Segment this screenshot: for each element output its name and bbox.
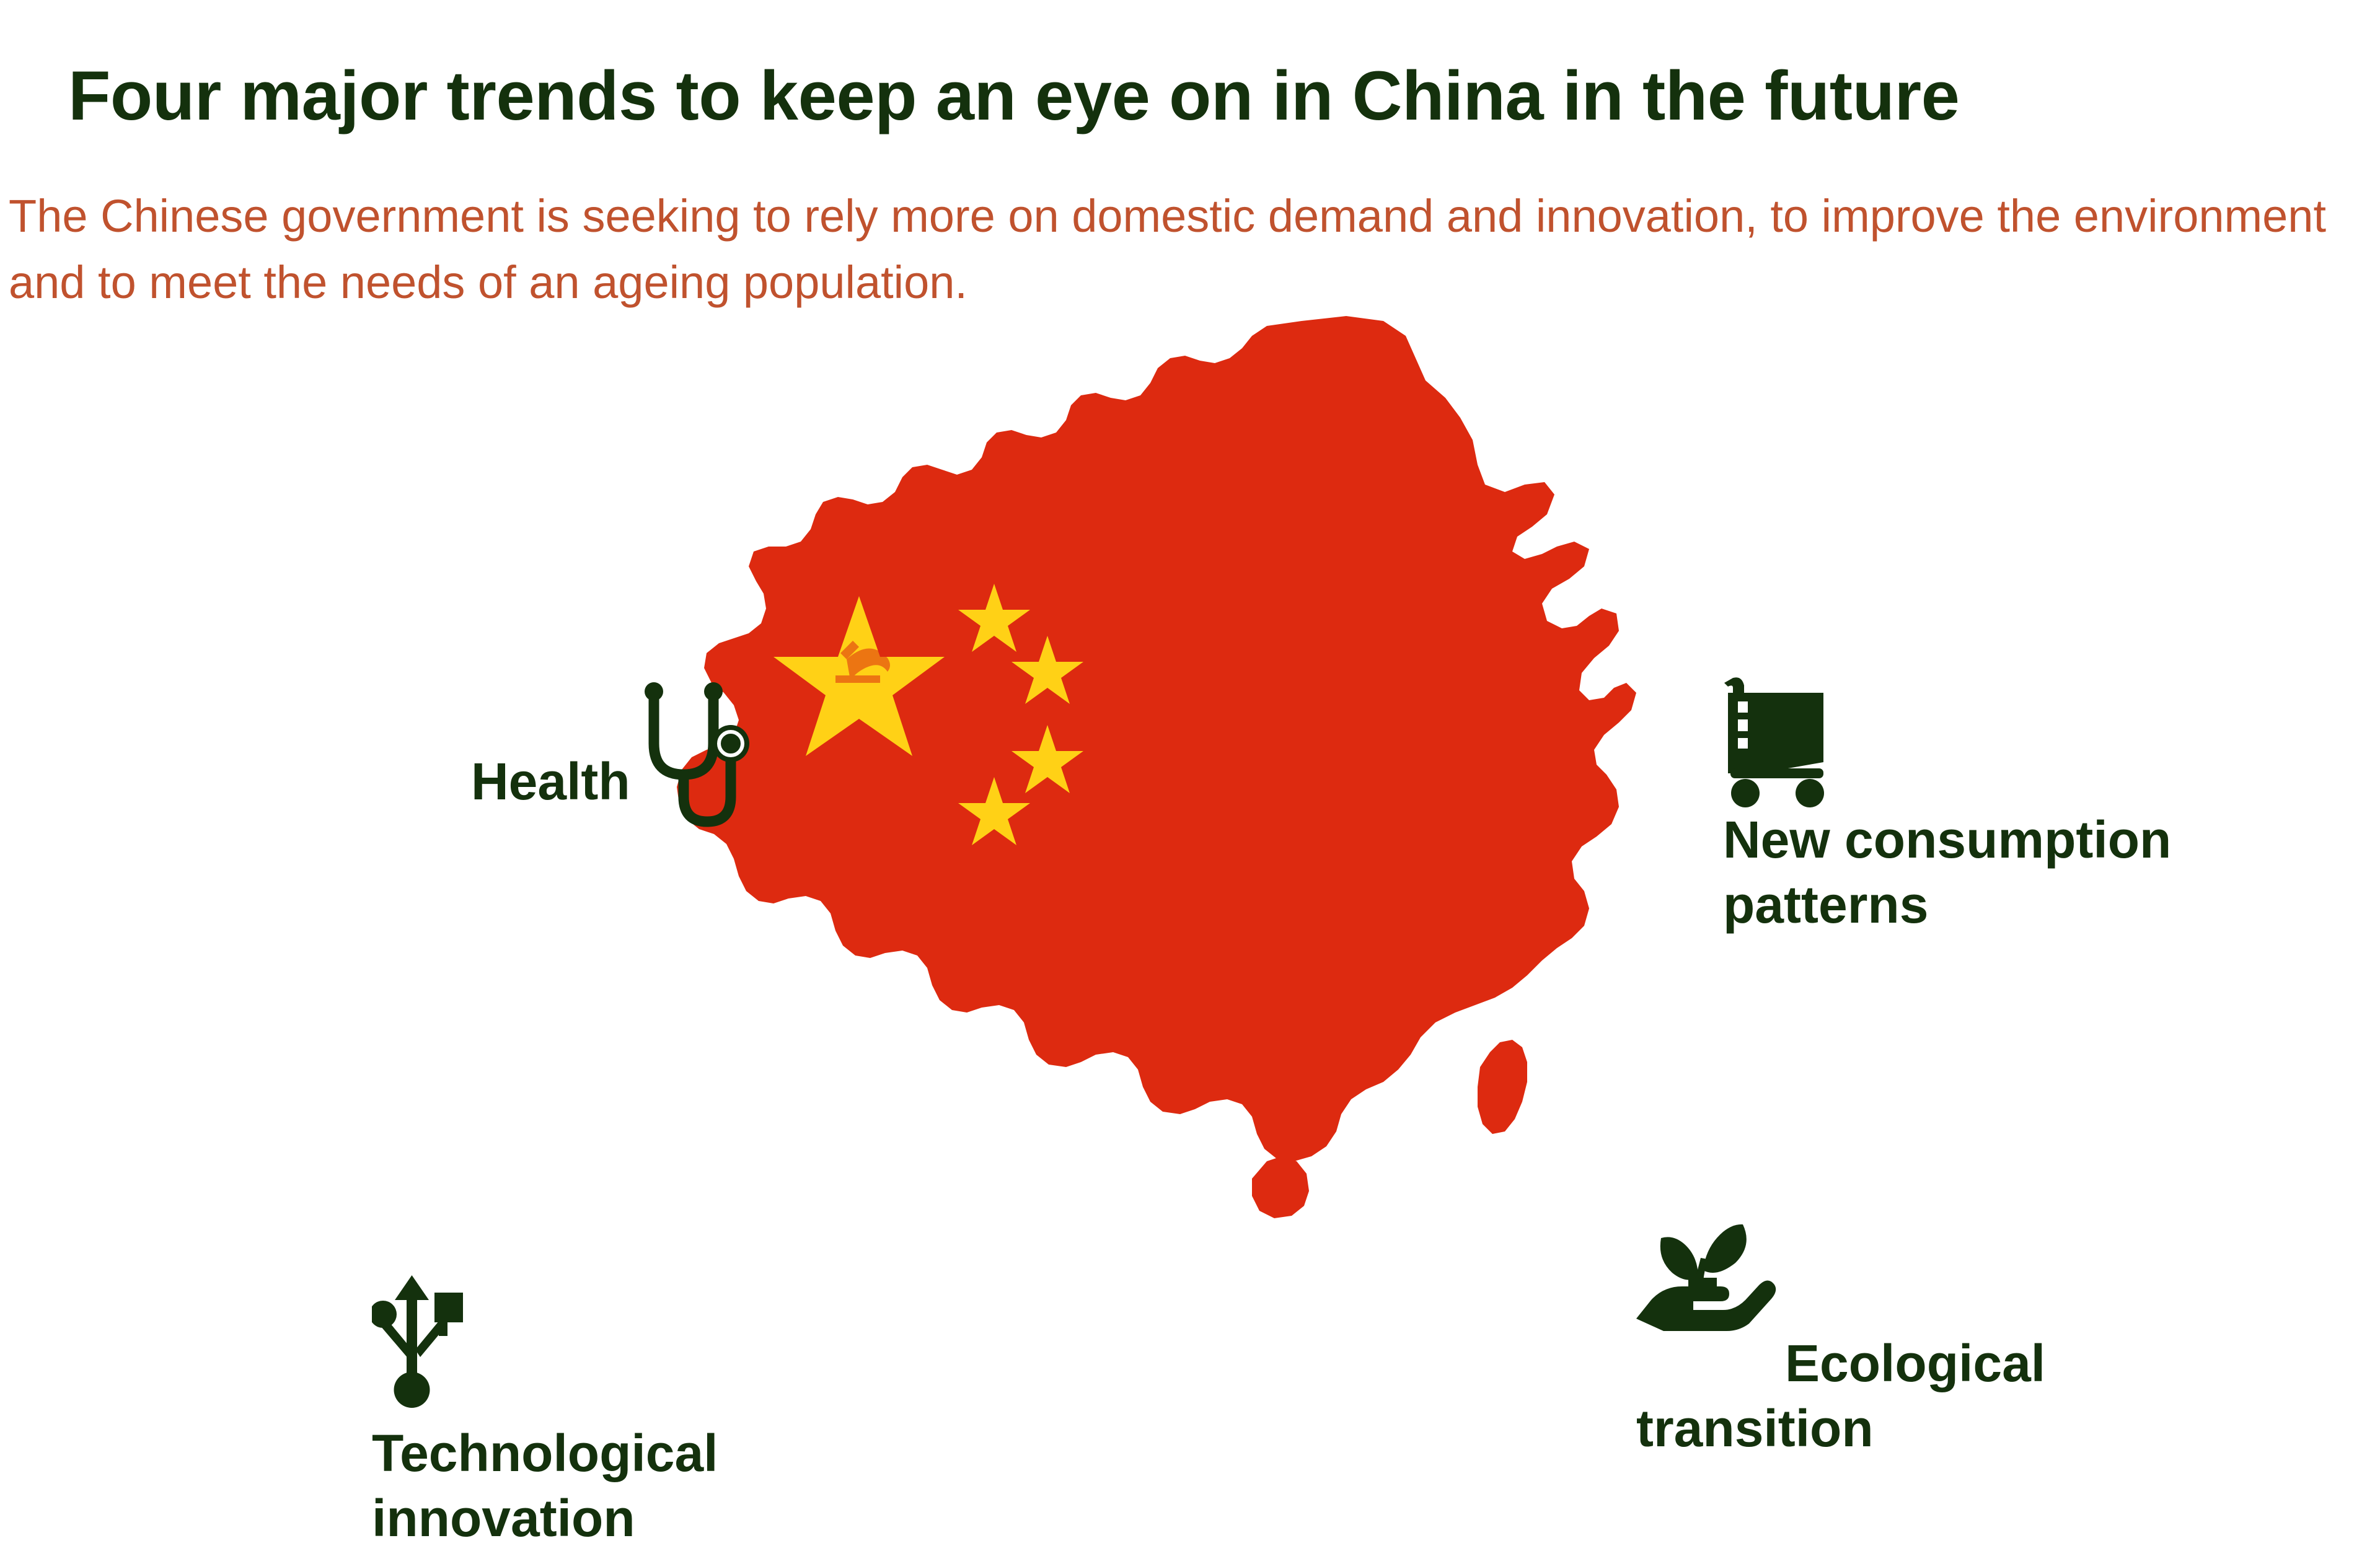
hand-holding-plant-icon <box>1636 1213 2194 1331</box>
shopping-cart-icon <box>1723 674 2374 807</box>
china-taiwan-island <box>1478 1040 1527 1134</box>
trend-ecological-label: Ecological transition <box>1636 1334 2045 1457</box>
trend-health-label: Health <box>471 749 630 830</box>
stethoscope-icon <box>639 675 751 830</box>
trend-consumption-label: New consumption patterns <box>1723 811 2171 934</box>
china-hainan-island <box>1252 1156 1309 1218</box>
trend-technological[interactable]: Technological innovation <box>372 1264 880 1551</box>
trend-technological-label: Technological innovation <box>372 1424 718 1547</box>
page-title: Four major trends to keep an eye on in C… <box>68 54 1959 139</box>
trend-health[interactable]: Health <box>471 675 751 830</box>
trend-ecological[interactable]: Ecological transition <box>1636 1202 2194 1461</box>
map-stage: Health <box>0 291 2380 1220</box>
usb-icon <box>372 1275 880 1421</box>
china-map <box>657 304 1797 1221</box>
trend-consumption[interactable]: New consumption patterns <box>1723 663 2374 938</box>
